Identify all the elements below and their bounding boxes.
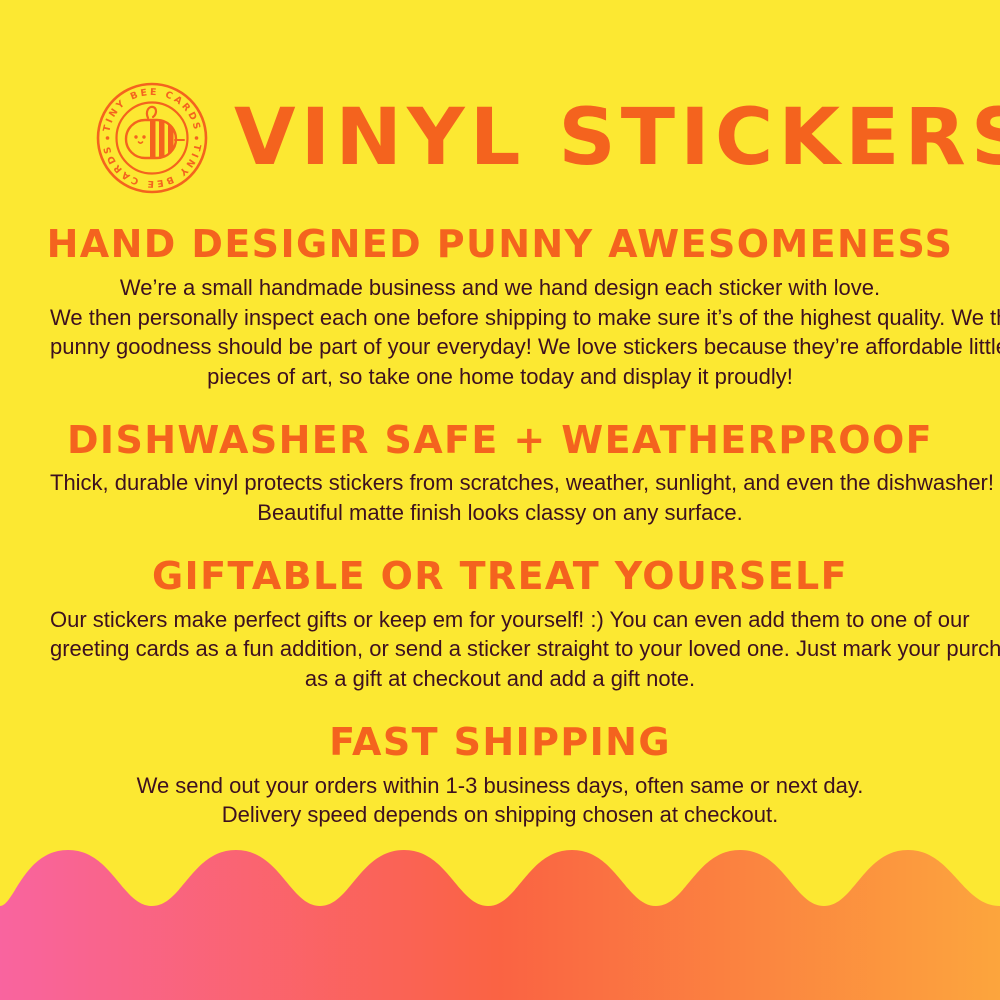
- body-line: greeting cards as a fun addition, or sen…: [50, 634, 950, 664]
- tiny-bee-cards-logo: TINY BEE CARDS TINY BEE CARDS: [96, 82, 208, 194]
- section-heading: GIFTABLE OR TREAT YOURSELF: [0, 554, 1000, 599]
- section-body: We’re a small handmade business and we h…: [50, 273, 950, 392]
- body-line: Delivery speed depends on shipping chose…: [50, 800, 950, 830]
- section-heading: FAST SHIPPING: [0, 720, 1000, 765]
- body-line: Beautiful matte finish looks classy on a…: [50, 498, 950, 528]
- page-title: VINYL STICKERS: [234, 99, 1000, 177]
- body-line: pieces of art, so take one home today an…: [50, 362, 950, 392]
- section-dishwasher-safe: DISHWASHER SAFE + WEATHERPROOF Thick, du…: [0, 418, 1000, 528]
- section-body: Thick, durable vinyl protects stickers f…: [50, 468, 950, 527]
- sticker-info-poster: TINY BEE CARDS TINY BEE CARDS: [0, 0, 1000, 1000]
- section-heading: HAND DESIGNED PUNNY AWESOMENESS: [0, 222, 1000, 267]
- section-giftable: GIFTABLE OR TREAT YOURSELF Our stickers …: [0, 554, 1000, 694]
- body-line: We’re a small handmade business and we h…: [50, 273, 950, 303]
- wavy-gradient-band: [0, 830, 1000, 1000]
- content-sections: HAND DESIGNED PUNNY AWESOMENESS We’re a …: [0, 222, 1000, 856]
- body-line: as a gift at checkout and add a gift not…: [50, 664, 950, 694]
- poster-header: TINY BEE CARDS TINY BEE CARDS: [0, 78, 1000, 198]
- body-line: punny goodness should be part of your ev…: [50, 332, 950, 362]
- body-line: We then personally inspect each one befo…: [50, 303, 950, 333]
- section-body: We send out your orders within 1-3 busin…: [50, 771, 950, 830]
- section-fast-shipping: FAST SHIPPING We send out your orders wi…: [0, 720, 1000, 830]
- body-line: Thick, durable vinyl protects stickers f…: [50, 468, 950, 498]
- section-heading: DISHWASHER SAFE + WEATHERPROOF: [0, 418, 1000, 463]
- body-line: We send out your orders within 1-3 busin…: [50, 771, 950, 801]
- section-hand-designed: HAND DESIGNED PUNNY AWESOMENESS We’re a …: [0, 222, 1000, 392]
- section-body: Our stickers make perfect gifts or keep …: [50, 605, 950, 694]
- body-line: Our stickers make perfect gifts or keep …: [50, 605, 950, 635]
